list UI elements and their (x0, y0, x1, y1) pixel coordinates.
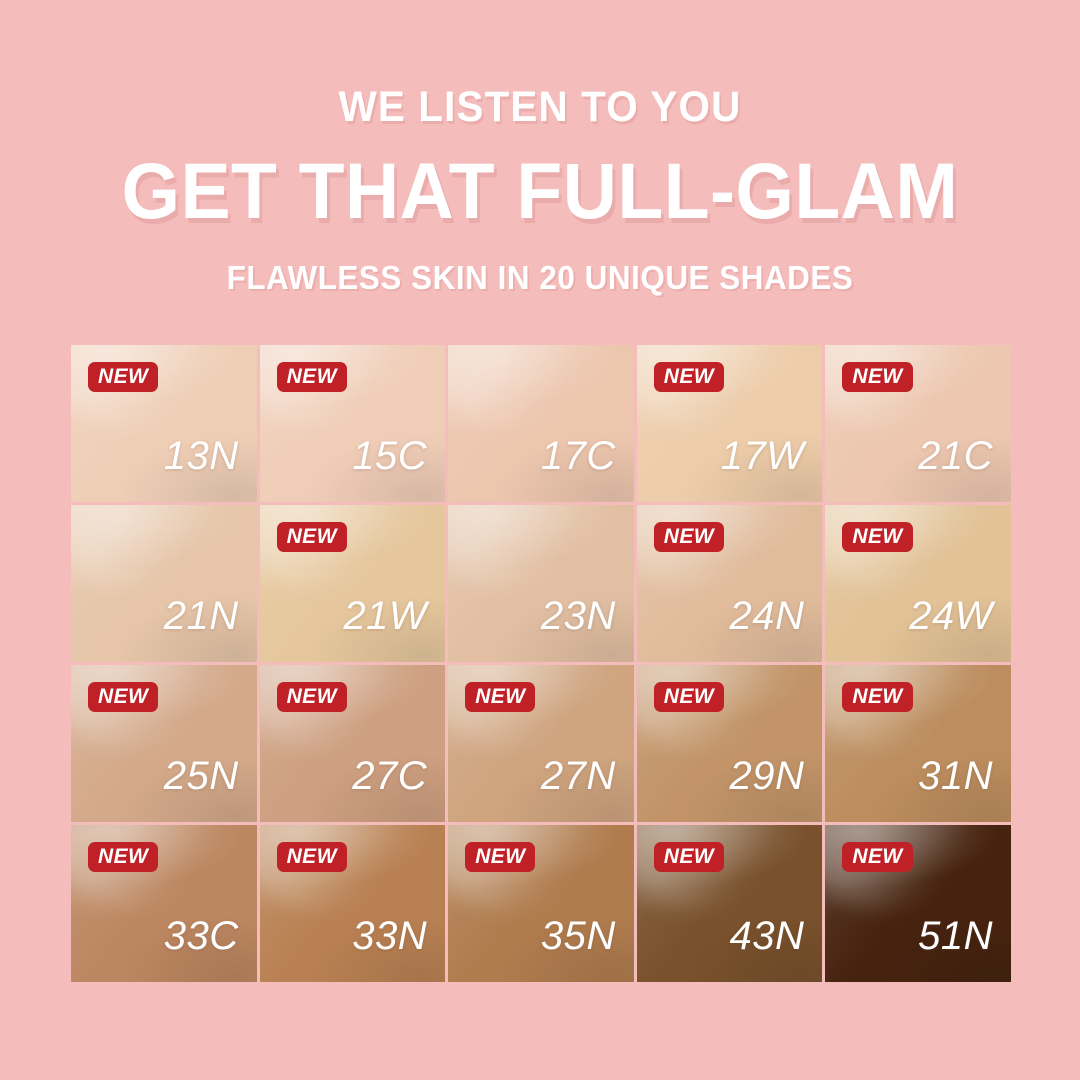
new-badge: NEW (654, 682, 724, 712)
shade-swatch[interactable]: NEW17C (448, 345, 634, 502)
new-badge: NEW (277, 522, 347, 552)
shade-code-label: 35N (541, 916, 616, 956)
swatch-sheen (448, 345, 634, 502)
shade-code-label: 27C (352, 756, 427, 796)
shade-swatch-grid: NEW13NNEW15CNEW17CNEW17WNEW21CNEW21NNEW2… (71, 345, 1011, 982)
shade-swatch[interactable]: NEW24W (825, 505, 1011, 662)
new-badge: NEW (88, 842, 158, 872)
shade-swatch[interactable]: NEW51N (825, 825, 1011, 982)
shade-code-label: 29N (730, 756, 805, 796)
new-badge: NEW (842, 682, 912, 712)
new-badge: NEW (842, 842, 912, 872)
shade-swatch[interactable]: NEW17W (637, 345, 823, 502)
shade-code-label: 21N (164, 596, 239, 636)
shade-swatch[interactable]: NEW13N (71, 345, 257, 502)
shade-swatch[interactable]: NEW43N (637, 825, 823, 982)
shade-swatch[interactable]: NEW35N (448, 825, 634, 982)
shade-code-label: 21W (343, 596, 427, 636)
shade-swatch[interactable]: NEW31N (825, 665, 1011, 822)
swatch-smear-highlight (448, 505, 604, 587)
shade-code-label: 17C (541, 436, 616, 476)
new-badge: NEW (842, 362, 912, 392)
shade-swatch[interactable]: NEW23N (448, 505, 634, 662)
swatch-smear-highlight (71, 505, 227, 587)
shade-swatch[interactable]: NEW27N (448, 665, 634, 822)
swatch-smear-highlight (448, 345, 604, 427)
swatch-sheen (71, 505, 257, 662)
new-badge: NEW (88, 362, 158, 392)
page-title: GET THAT FULL-GLAM (27, 151, 1053, 230)
shade-code-label: 17W (721, 436, 805, 476)
new-badge: NEW (842, 522, 912, 552)
shade-code-label: 43N (730, 916, 805, 956)
shade-code-label: 21C (918, 436, 993, 476)
shade-swatch[interactable]: NEW21N (71, 505, 257, 662)
shade-swatch[interactable]: NEW24N (637, 505, 823, 662)
shade-swatch[interactable]: NEW25N (71, 665, 257, 822)
shade-swatch[interactable]: NEW21W (260, 505, 446, 662)
new-badge: NEW (277, 682, 347, 712)
shade-swatch[interactable]: NEW15C (260, 345, 446, 502)
new-badge: NEW (654, 362, 724, 392)
shade-code-label: 24N (730, 596, 805, 636)
shade-code-label: 27N (541, 756, 616, 796)
shade-code-label: 24W (909, 596, 993, 636)
shade-swatch[interactable]: NEW27C (260, 665, 446, 822)
shade-code-label: 33N (352, 916, 427, 956)
eyebrow-text: WE LISTEN TO YOU (32, 86, 1047, 129)
shade-code-label: 31N (918, 756, 993, 796)
new-badge: NEW (277, 362, 347, 392)
subtitle-text: FLAWLESS SKIN IN 20 UNIQUE SHADES (27, 261, 1053, 294)
shade-swatch[interactable]: NEW33C (71, 825, 257, 982)
shade-code-label: 15C (352, 436, 427, 476)
heading-block: WE LISTEN TO YOU GET THAT FULL-GLAM FLAW… (0, 0, 1080, 294)
shade-code-label: 33C (164, 916, 239, 956)
shade-code-label: 51N (918, 916, 993, 956)
swatch-sheen (448, 505, 634, 662)
new-badge: NEW (654, 522, 724, 552)
shade-swatch[interactable]: NEW21C (825, 345, 1011, 502)
shade-code-label: 23N (541, 596, 616, 636)
new-badge: NEW (465, 842, 535, 872)
shade-swatch[interactable]: NEW29N (637, 665, 823, 822)
new-badge: NEW (277, 842, 347, 872)
shade-code-label: 25N (164, 756, 239, 796)
shade-code-label: 13N (164, 436, 239, 476)
new-badge: NEW (88, 682, 158, 712)
new-badge: NEW (654, 842, 724, 872)
shade-swatch[interactable]: NEW33N (260, 825, 446, 982)
new-badge: NEW (465, 682, 535, 712)
